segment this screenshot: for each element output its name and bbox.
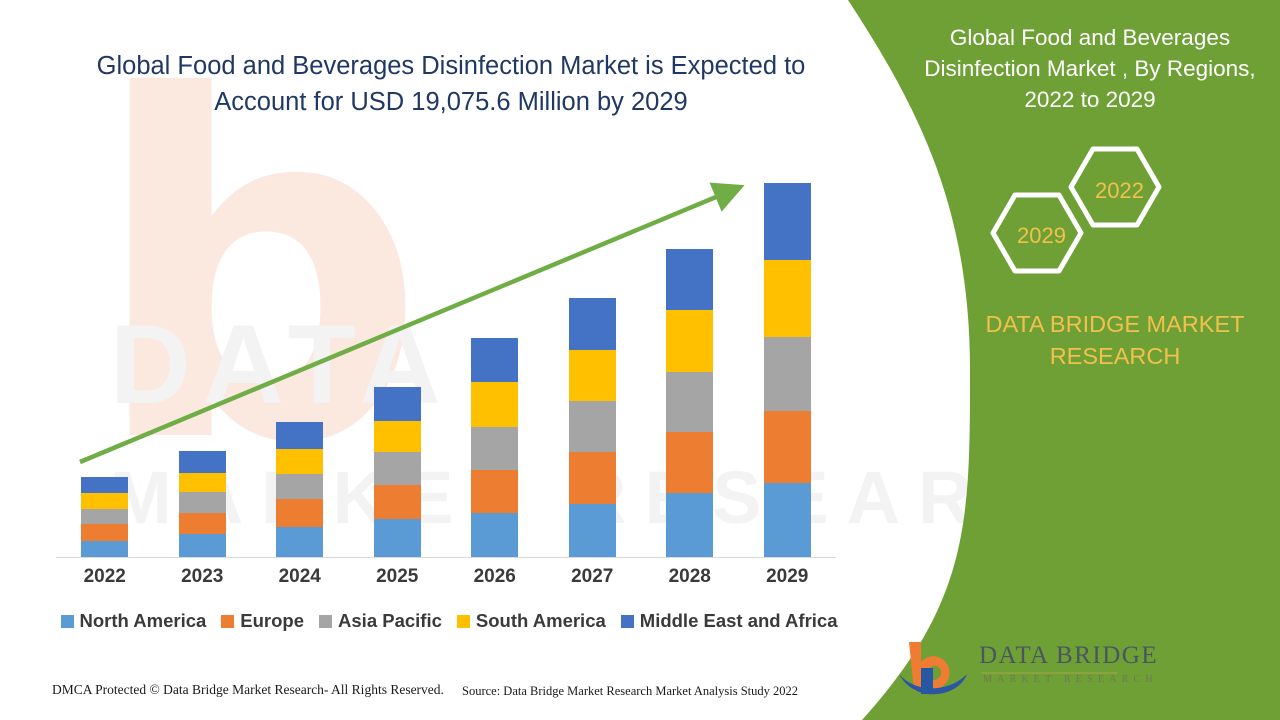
bar-segment [81,509,128,524]
bar-segment [374,421,421,452]
bar-segment [471,382,518,426]
bar-segment [569,452,616,503]
bar-segment [179,473,226,493]
legend-swatch-icon [221,615,234,628]
bar-segment [569,504,616,557]
legend-item[interactable]: North America [61,610,207,632]
legend-swatch-icon [319,615,332,628]
legend-label: North America [80,610,207,632]
panel-brand-text: DATA BRIDGE MARKET RESEARCH [965,308,1265,373]
bar-segment [764,411,811,483]
x-axis-tick: 2026 [451,566,539,588]
legend-item[interactable]: Middle East and Africa [621,610,838,632]
copyright-text: DMCA Protected © Data Bridge Market Rese… [52,682,444,698]
bar-segment [569,298,616,349]
legend-swatch-icon [621,615,634,628]
legend-label: Asia Pacific [338,610,442,632]
bar-slot-2024[interactable] [256,150,344,557]
x-axis-tick: 2023 [158,566,246,588]
x-axis-tick: 2024 [256,566,344,588]
logo-name: DATA BRIDGE [979,642,1158,670]
year-hexagons: 2022 2029 [985,145,1185,280]
x-axis-tick: 2029 [743,566,831,588]
bar-segment [666,310,713,372]
bar-segment [276,449,323,474]
source-text: Source: Data Bridge Market Research Mark… [462,684,798,699]
chart-legend: North AmericaEuropeAsia PacificSouth Ame… [56,606,842,636]
bar-segment [179,451,226,473]
panel-title: Global Food and Beverages Disinfection M… [920,22,1260,115]
bar-segment [666,372,713,432]
bar-segment [374,452,421,485]
bar-segment [81,493,128,508]
stacked-bar-2025[interactable] [374,387,421,557]
bar-segment [374,387,421,421]
stacked-bar-chart [56,150,836,560]
bar-segment [179,534,226,557]
data-bridge-logo: DATA BRIDGE MARKET RESEARCH [895,638,1125,698]
bar-segment [471,427,518,470]
legend-label: Europe [240,610,304,632]
x-axis-tick: 2027 [548,566,636,588]
bar-segment [764,337,811,411]
bar-segment [276,499,323,527]
legend-item[interactable]: Europe [221,610,304,632]
x-axis-tick: 2028 [646,566,734,588]
bar-slot-2025[interactable] [353,150,441,557]
bar-segment [471,338,518,382]
stacked-bar-2028[interactable] [666,249,713,557]
bar-slot-2029[interactable] [743,150,831,557]
bar-segment [81,524,128,540]
bar-segment [471,470,518,513]
bar-segment [764,483,811,557]
stacked-bar-2023[interactable] [179,451,226,557]
legend-label: Middle East and Africa [640,610,838,632]
legend-label: South America [476,610,606,632]
bar-slot-2027[interactable] [548,150,636,557]
stacked-bar-2024[interactable] [276,422,323,557]
bar-segment [81,477,128,493]
stacked-bar-2027[interactable] [569,298,616,557]
bar-segment [569,401,616,452]
bar-segment [764,183,811,260]
x-axis-tick: 2025 [353,566,441,588]
bar-segment [374,485,421,519]
legend-swatch-icon [61,615,74,628]
stacked-bar-2022[interactable] [81,477,128,557]
bar-segment [666,493,713,557]
bar-slot-2022[interactable] [61,150,149,557]
logo-mark-icon [895,638,973,696]
bar-slot-2026[interactable] [451,150,539,557]
bar-segment [81,541,128,557]
bar-segment [666,432,713,494]
infographic-canvas: b DATA MARKET RESEARCH Global Food and B… [0,0,1280,720]
bar-segment [764,260,811,337]
chart-plot-area [56,150,836,558]
logo-subtitle: MARKET RESEARCH [983,674,1158,685]
bar-segment [569,350,616,401]
stacked-bar-2029[interactable] [764,183,811,557]
bar-segment [471,513,518,557]
legend-item[interactable]: Asia Pacific [319,610,442,632]
bar-slot-2023[interactable] [158,150,246,557]
bar-segment [276,422,323,449]
bar-segment [179,513,226,535]
hex-label-2029: 2029 [1017,223,1066,249]
bar-segment [374,519,421,557]
bar-segment [276,527,323,557]
stacked-bar-2026[interactable] [471,338,518,557]
chart-x-axis: 20222023202420252026202720282029 [56,562,836,592]
x-axis-tick: 2022 [61,566,149,588]
bar-segment [666,249,713,311]
bar-segment [179,492,226,513]
hex-label-2022: 2022 [1095,178,1144,204]
bar-slot-2028[interactable] [646,150,734,557]
legend-item[interactable]: South America [457,610,606,632]
page-title: Global Food and Beverages Disinfection M… [56,48,846,120]
legend-swatch-icon [457,615,470,628]
bar-segment [276,474,323,500]
